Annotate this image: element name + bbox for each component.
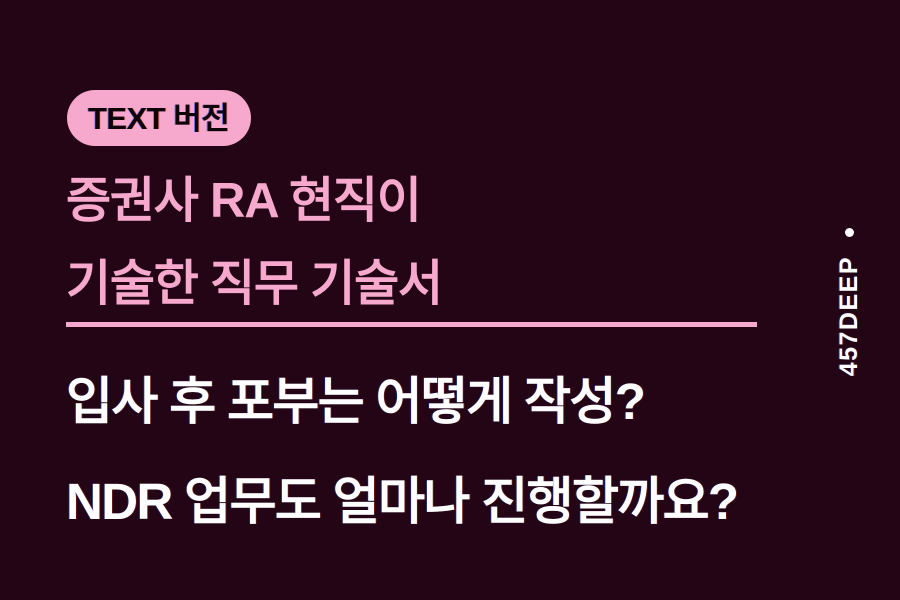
card-news-slide: TEXT 버전 증권사 RA 현직이 기술한 직무 기술서 입사 후 포부는 어… [0,0,900,600]
bullet-dot-icon [845,228,854,237]
question-list: 입사 후 포부는 어떻게 작성? NDR 업무도 얼마나 진행할까요? [66,352,856,552]
brand-rail: 457DEEP [826,228,872,376]
headline-divider [66,322,757,327]
question-line-1: 입사 후 포부는 어떻게 작성? [66,352,856,452]
text-version-badge: TEXT 버전 [67,90,251,146]
headline-line-1: 증권사 RA 현직이 [66,160,826,243]
headline-line-2: 기술한 직무 기술서 [66,243,826,326]
question-line-2: NDR 업무도 얼마나 진행할까요? [66,452,856,552]
headline: 증권사 RA 현직이 기술한 직무 기술서 [66,160,826,326]
brand-name-vertical: 457DEEP [837,256,862,376]
text-version-badge-label: TEXT 버전 [88,103,229,134]
